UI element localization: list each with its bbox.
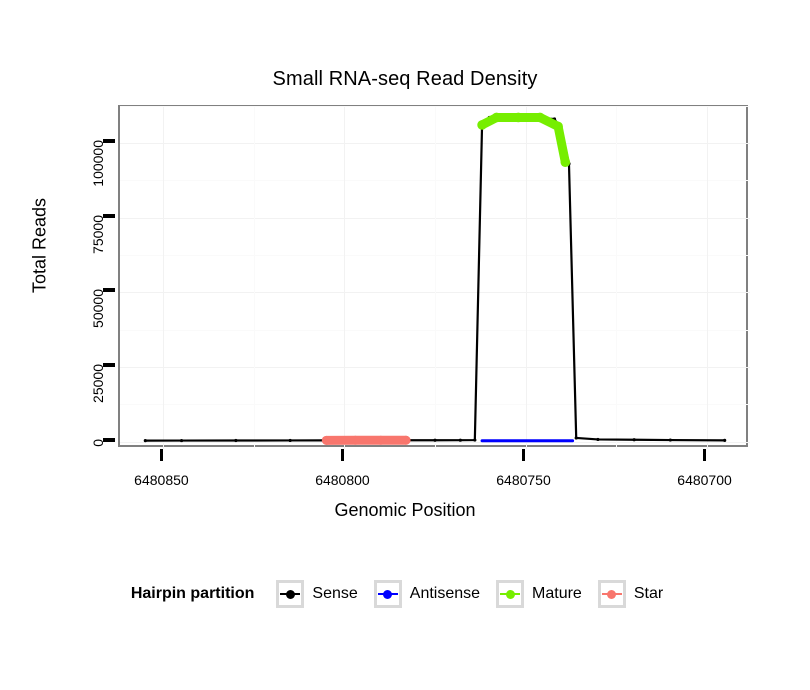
legend-key-star xyxy=(598,580,626,608)
legend-key-dot-icon xyxy=(383,590,392,599)
series-point-sense xyxy=(234,439,237,442)
x-tick-label: 6480850 xyxy=(101,472,221,488)
series-line-sense xyxy=(145,117,724,440)
series-point-sense xyxy=(144,439,147,442)
x-tick-label: 6480800 xyxy=(282,472,402,488)
legend-item-antisense[interactable]: Antisense xyxy=(374,580,480,608)
legend-label: Star xyxy=(634,585,663,603)
series-point-mature xyxy=(492,113,502,123)
x-tick-mark xyxy=(341,449,344,461)
y-tick-label: 100000 xyxy=(90,140,106,224)
legend-title: Hairpin partition xyxy=(131,585,255,603)
series-point-sense xyxy=(180,439,183,442)
series-point-mature xyxy=(535,113,545,123)
legend-item-mature[interactable]: Mature xyxy=(496,580,582,608)
series-point-sense xyxy=(459,439,462,442)
plot-panel xyxy=(118,105,748,447)
series-point-star xyxy=(322,436,331,445)
series-point-star xyxy=(351,436,360,445)
y-tick-label: 50000 xyxy=(90,289,106,373)
page-title: Small RNA-seq Read Density xyxy=(0,68,810,91)
series-point-star xyxy=(402,436,411,445)
legend-key-antisense xyxy=(374,580,402,608)
series-point-sense xyxy=(633,438,636,441)
legend-item-sense[interactable]: Sense xyxy=(276,580,357,608)
x-axis-title: Genomic Position xyxy=(0,500,810,521)
x-tick-label: 6480750 xyxy=(464,472,584,488)
series-point-mature xyxy=(513,113,523,123)
x-tick-mark xyxy=(522,449,525,461)
series-point-sense xyxy=(669,438,672,441)
series-point-sense xyxy=(433,439,436,442)
y-axis-title: Total Reads xyxy=(30,146,51,346)
series-point-mature xyxy=(477,120,487,130)
legend-key-dot-icon xyxy=(286,590,295,599)
series-point-mature xyxy=(553,122,563,132)
legend-label: Sense xyxy=(312,585,357,603)
series-point-sense xyxy=(473,438,476,441)
x-tick-mark xyxy=(703,449,706,461)
series-point-sense xyxy=(723,439,726,442)
series-point-sense xyxy=(289,439,292,442)
legend-item-star[interactable]: Star xyxy=(598,580,663,608)
y-tick-label: 25000 xyxy=(90,364,106,448)
legend-key-mature xyxy=(496,580,524,608)
series-point-star xyxy=(376,436,385,445)
series-point-sense xyxy=(596,438,599,441)
legend-label: Antisense xyxy=(410,585,480,603)
legend-key-dot-icon xyxy=(506,590,515,599)
chart-figure: Small RNA-seq Read Density Total Reads G… xyxy=(0,0,810,690)
legend-label: Mature xyxy=(532,585,582,603)
y-tick-label: 75000 xyxy=(90,215,106,299)
data-series-layer xyxy=(120,107,750,449)
x-tick-mark xyxy=(160,449,163,461)
legend-key-sense xyxy=(276,580,304,608)
series-point-sense xyxy=(575,436,578,439)
legend-key-dot-icon xyxy=(607,590,616,599)
series-point-mature xyxy=(561,157,571,167)
x-tick-label: 6480700 xyxy=(645,472,765,488)
series-line-mature xyxy=(482,117,565,162)
legend: Hairpin partition SenseAntisenseMatureSt… xyxy=(0,580,810,608)
